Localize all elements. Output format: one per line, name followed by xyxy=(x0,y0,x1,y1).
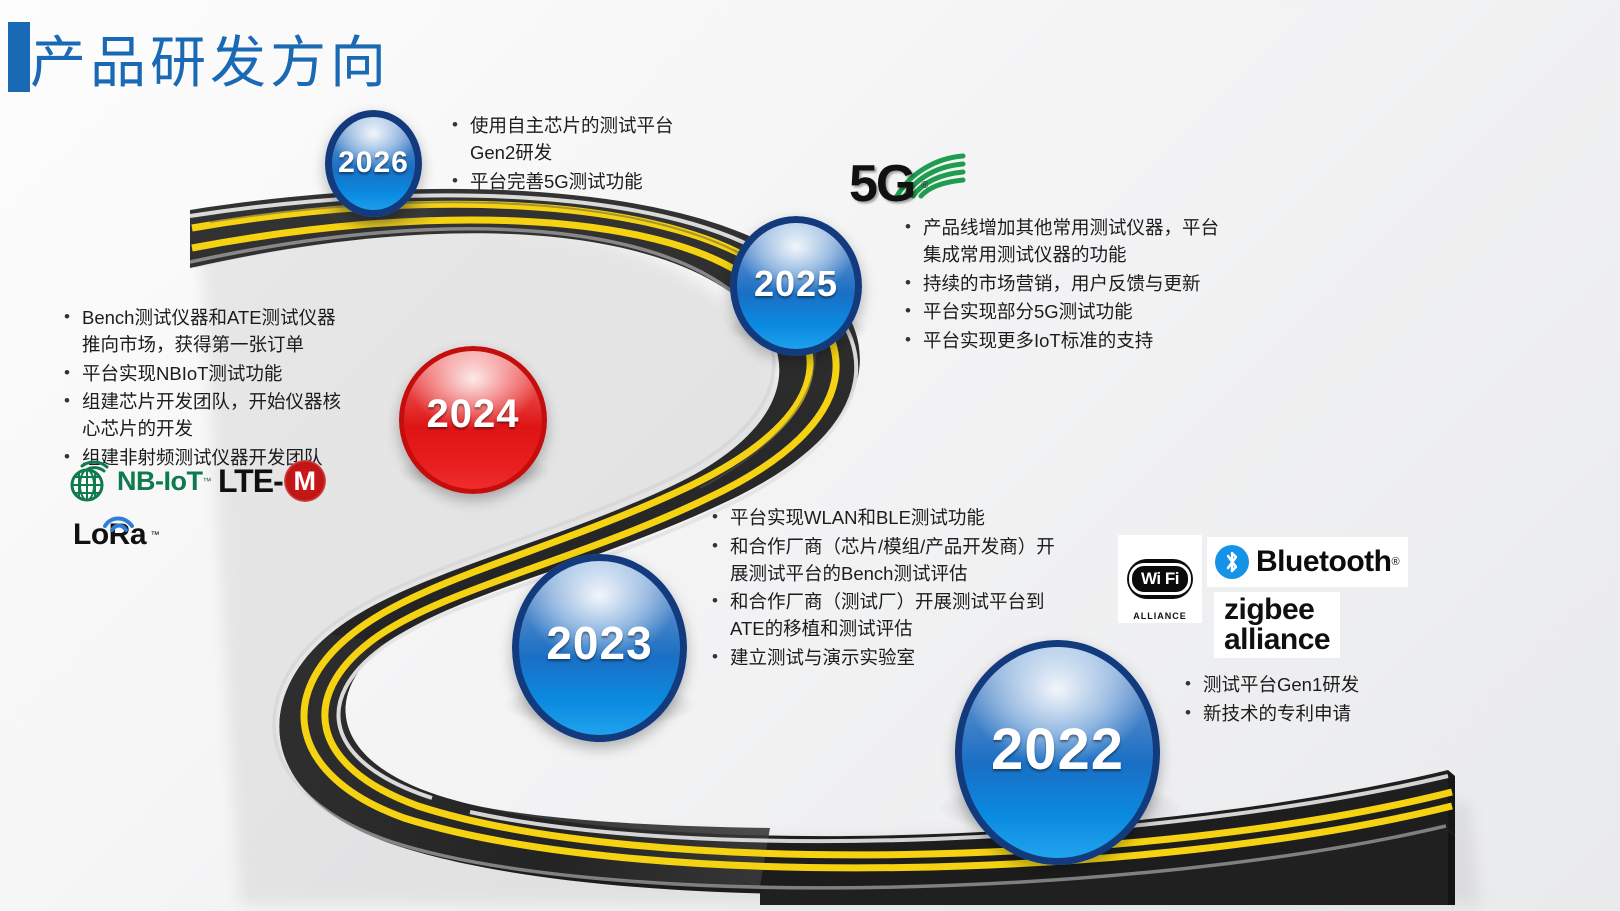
bullet-text: 组建芯片开发团队，开始仪器核 心芯片的开发 xyxy=(82,389,341,443)
bullet-dot: • xyxy=(905,215,923,240)
milestone-year-2026: 2026 xyxy=(325,146,422,180)
bluetooth-logo-text: Bluetooth xyxy=(1256,545,1391,579)
5g-registered-mark: ® xyxy=(921,180,928,191)
milestone-node-2025[interactable]: 2025 xyxy=(730,216,862,356)
milestone-year-2022: 2022 xyxy=(955,716,1160,783)
bullet-item: • 新技术的专利申请 xyxy=(1185,701,1485,728)
wifi-alliance-subtext: ALLIANCE xyxy=(1118,611,1202,621)
milestone-text-2022: • 测试平台Gen1研发 • 新技术的专利申请 xyxy=(1185,672,1485,730)
lora-signal-icon xyxy=(99,510,141,532)
bullet-item: • 建立测试与演示实验室 xyxy=(712,645,1087,672)
lora-tm-mark: ™ xyxy=(150,530,159,540)
nbiot-globe-icon xyxy=(66,458,112,504)
bullet-dot: • xyxy=(452,169,470,194)
bullet-dot: • xyxy=(452,113,470,138)
bullet-text: 建立测试与演示实验室 xyxy=(730,645,915,672)
bullet-dot: • xyxy=(905,328,923,353)
slide-canvas: 产品研发方向 xyxy=(0,0,1620,911)
bullet-text: 平台实现更多IoT标准的支持 xyxy=(923,328,1153,355)
bullet-item: • 和合作厂商（测试厂）开展测试平台到 ATE的移植和测试评估 xyxy=(712,589,1087,643)
bullet-text: 持续的市场营销，用户反馈与更新 xyxy=(923,271,1201,298)
bullet-item: • 平台实现更多IoT标准的支持 xyxy=(905,328,1285,355)
ltem-logo-text: LTE- xyxy=(218,463,283,500)
milestone-text-2026: • 使用自主芯片的测试平台 Gen2研发 • 平台完善5G测试功能 xyxy=(452,113,752,197)
bullet-text: 使用自主芯片的测试平台 Gen2研发 xyxy=(470,113,674,167)
ltem-logo: LTE- M xyxy=(218,460,326,502)
bluetooth-badge-icon xyxy=(1215,545,1249,579)
milestone-node-2024[interactable]: 2024 xyxy=(399,346,547,494)
milestone-year-2023: 2023 xyxy=(512,616,687,670)
milestone-node-2023[interactable]: 2023 xyxy=(512,554,687,742)
zigbee-alliance-logo: zigbee alliance xyxy=(1214,592,1340,658)
bullet-dot: • xyxy=(905,271,923,296)
nbiot-tm-mark: ™ xyxy=(202,476,211,486)
wifi-badge-icon: Wi Fi xyxy=(1127,559,1193,599)
bullet-item: • 组建芯片开发团队，开始仪器核 心芯片的开发 xyxy=(64,389,384,443)
bullet-text: Bench测试仪器和ATE测试仪器 推向市场，获得第一张订单 xyxy=(82,305,336,359)
bluetooth-registered-mark: ® xyxy=(1391,556,1399,568)
bullet-item: • 平台实现部分5G测试功能 xyxy=(905,299,1285,326)
bullet-item: • 平台实现NBIoT测试功能 xyxy=(64,361,384,388)
bullet-item: • Bench测试仪器和ATE测试仪器 推向市场，获得第一张订单 xyxy=(64,305,384,359)
wifi-alliance-logo: Wi Fi ALLIANCE xyxy=(1118,535,1202,623)
milestone-node-2026[interactable]: 2026 xyxy=(325,110,422,217)
5g-logo: 5G ® xyxy=(845,150,975,212)
milestone-year-2024: 2024 xyxy=(399,392,547,437)
bullet-dot: • xyxy=(64,305,82,330)
bullet-dot: • xyxy=(64,389,82,414)
zigbee-logo-line2: alliance xyxy=(1224,625,1330,655)
bullet-dot: • xyxy=(712,589,730,614)
wifi-logo-text: Wi Fi xyxy=(1129,563,1191,595)
bullet-text: 平台实现NBIoT测试功能 xyxy=(82,361,282,388)
milestone-year-2025: 2025 xyxy=(730,263,862,305)
bullet-item: • 测试平台Gen1研发 xyxy=(1185,672,1485,699)
bullet-text: 平台完善5G测试功能 xyxy=(470,169,643,196)
bullet-text: 和合作厂商（测试厂）开展测试平台到 ATE的移植和测试评估 xyxy=(730,589,1045,643)
ltem-m-badge: M xyxy=(284,460,326,502)
nbiot-logo: NB-IoT ™ xyxy=(66,458,211,504)
bullet-item: • 产品线增加其他常用测试仪器，平台 集成常用测试仪器的功能 xyxy=(905,215,1285,269)
bullet-dot: • xyxy=(1185,701,1203,726)
bullet-dot: • xyxy=(1185,672,1203,697)
bullet-dot: • xyxy=(905,299,923,324)
bullet-item: • 使用自主芯片的测试平台 Gen2研发 xyxy=(452,113,752,167)
zigbee-logo-line1: zigbee xyxy=(1224,595,1330,625)
bullet-text: 平台实现部分5G测试功能 xyxy=(923,299,1133,326)
bullet-text: 新技术的专利申请 xyxy=(1203,701,1351,728)
5g-logo-text: 5G xyxy=(849,154,914,214)
bullet-item: • 持续的市场营销，用户反馈与更新 xyxy=(905,271,1285,298)
bluetooth-logo: Bluetooth ® xyxy=(1207,537,1408,587)
bullet-text: 产品线增加其他常用测试仪器，平台 集成常用测试仪器的功能 xyxy=(923,215,1219,269)
milestone-text-2024: • Bench测试仪器和ATE测试仪器 推向市场，获得第一张订单 • 平台实现N… xyxy=(64,305,384,474)
nbiot-logo-text: NB-IoT xyxy=(117,466,202,497)
milestone-text-2025: • 产品线增加其他常用测试仪器，平台 集成常用测试仪器的功能 • 持续的市场营销… xyxy=(905,215,1285,357)
bullet-dot: • xyxy=(64,361,82,386)
bullet-item: • 平台完善5G测试功能 xyxy=(452,169,752,196)
bullet-dot: • xyxy=(712,645,730,670)
bullet-text: 测试平台Gen1研发 xyxy=(1203,672,1359,699)
